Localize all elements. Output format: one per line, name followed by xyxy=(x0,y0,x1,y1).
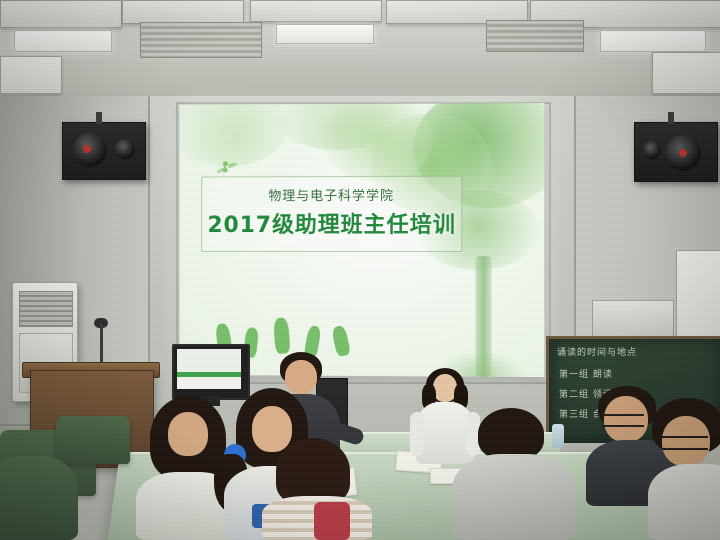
chalk-line: 第一组 朗读 xyxy=(559,369,613,381)
ceiling-panel xyxy=(122,0,244,24)
ceiling-panel xyxy=(652,52,720,94)
speaker-led-icon xyxy=(679,149,687,157)
speaker-tweeter-icon xyxy=(115,139,135,159)
glasses-icon xyxy=(662,436,708,450)
ac-vent-icon xyxy=(19,291,73,327)
speaker-tweeter-icon xyxy=(643,141,661,159)
arm xyxy=(410,412,424,456)
speaker-mount-left xyxy=(96,112,102,124)
ceiling-light-panels xyxy=(600,30,706,52)
speaker-led-icon xyxy=(83,145,91,153)
face xyxy=(168,412,208,456)
speaker-left xyxy=(62,122,146,180)
slide-subtitle: 物理与电子科学学院 xyxy=(202,185,461,204)
torso xyxy=(648,464,720,540)
ceiling-panel xyxy=(0,56,62,94)
speaker-right xyxy=(634,122,718,182)
projector-screen: 物理与电子科学学院 2017级助理班主任培训 xyxy=(180,103,545,377)
student-partial-left xyxy=(0,446,78,540)
ceiling-vent-icon xyxy=(140,22,262,58)
glasses-icon xyxy=(602,414,644,427)
torso xyxy=(0,456,78,540)
classroom-photo: 物理与电子科学学院 2017级助理班主任培训 诵读的时间与地点 第一组 朗读 第… xyxy=(0,0,720,540)
ceiling-vent-icon xyxy=(486,20,584,52)
slide-title-box: 物理与电子科学学院 2017级助理班主任培训 xyxy=(201,176,462,252)
torso xyxy=(452,454,576,540)
speaker-mount-right xyxy=(668,112,674,124)
ceiling-light-panels xyxy=(276,24,374,44)
hair xyxy=(478,408,544,460)
wall-panel-right xyxy=(592,300,674,338)
student-male-far-right xyxy=(648,398,720,540)
ceiling-panel xyxy=(0,0,122,28)
chalk-line: 诵读的时间与地点 xyxy=(557,347,637,359)
backpack-strap xyxy=(314,502,350,540)
ceiling-light-panels xyxy=(14,30,112,52)
student-male-back-right xyxy=(452,408,576,540)
ceiling-panel xyxy=(250,0,382,22)
monitor-screen xyxy=(177,349,241,389)
student-female-striped xyxy=(262,438,372,540)
slide-title: 2017级助理班主任培训 xyxy=(202,207,461,239)
hair xyxy=(276,438,350,504)
